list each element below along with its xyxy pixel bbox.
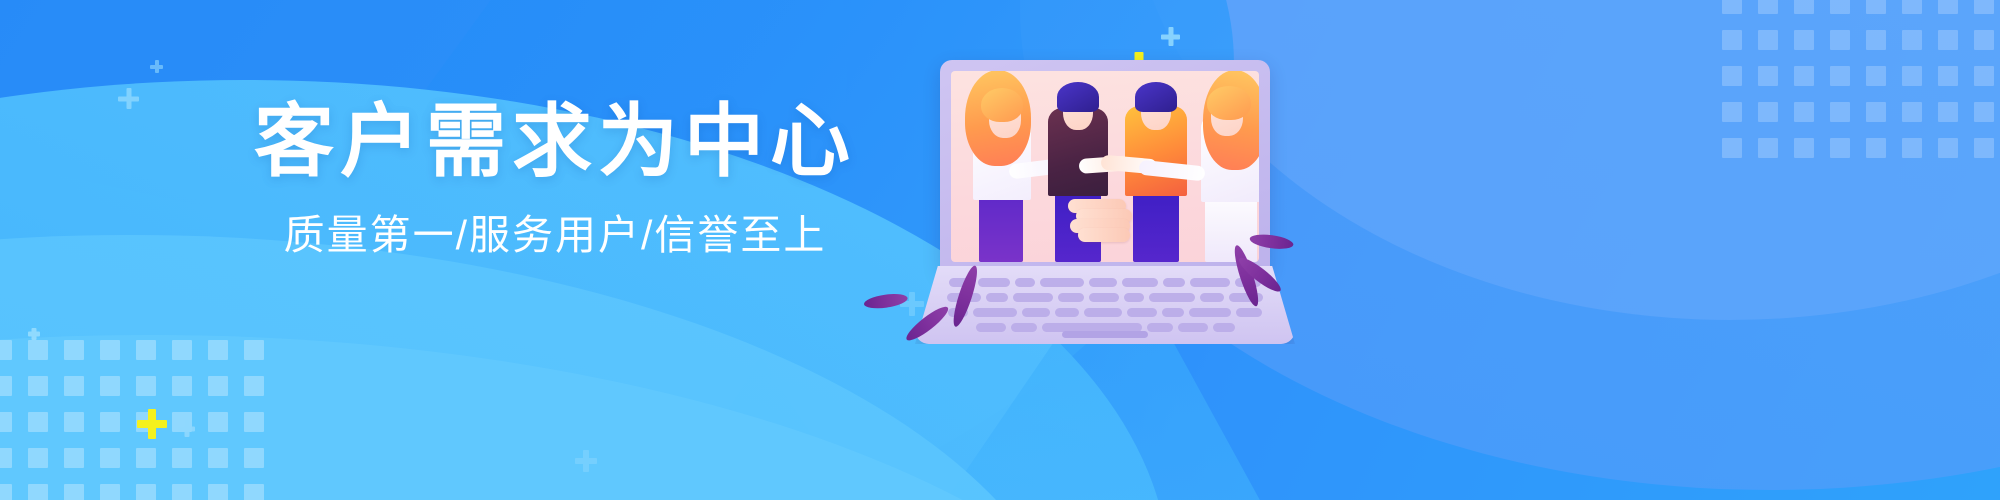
keyboard-row — [943, 293, 1267, 302]
laptop-keyboard — [943, 278, 1267, 338]
marketing-banner: 客户需求为中心 质量第一/服务用户/信誉至上 — [0, 0, 2000, 500]
square-grid-top-right-icon — [1722, 0, 2000, 164]
person-1-fringe — [981, 88, 1023, 122]
laptop-trackpad — [1062, 331, 1148, 338]
plus-cyan-small-icon — [1161, 27, 1180, 46]
plus-cyan-upper-left-2-icon — [150, 60, 163, 73]
laptop-screen — [951, 71, 1259, 262]
background-shard-mid-left — [0, 150, 280, 410]
stacked-hands-icon — [1068, 197, 1142, 241]
laptop-base — [915, 266, 1295, 344]
square-grid-bottom-left-icon — [0, 340, 270, 500]
person-1 — [959, 72, 1043, 262]
banner-copy: 客户需求为中心 质量第一/服务用户/信誉至上 — [245, 100, 865, 260]
person-4 — [1191, 71, 1259, 262]
keyboard-row — [943, 308, 1267, 317]
banner-headline: 客户需求为中心 — [245, 100, 865, 185]
plus-cyan-left-edge-icon — [28, 328, 40, 340]
person-3-hair — [1135, 82, 1177, 112]
plus-cyan-lower-center-icon — [575, 450, 597, 472]
keyboard-row — [943, 278, 1267, 287]
laptop-lid — [940, 60, 1270, 270]
plus-cyan-upper-left-icon — [118, 88, 139, 109]
plus-yellow-bottom-icon — [137, 409, 167, 439]
laptop-illustration — [915, 60, 1295, 360]
person-2-hair — [1057, 82, 1099, 112]
plus-cyan-bottom-icon — [178, 420, 195, 437]
banner-subheadline: 质量第一/服务用户/信誉至上 — [245, 211, 865, 260]
person-4-fringe — [1207, 86, 1251, 120]
